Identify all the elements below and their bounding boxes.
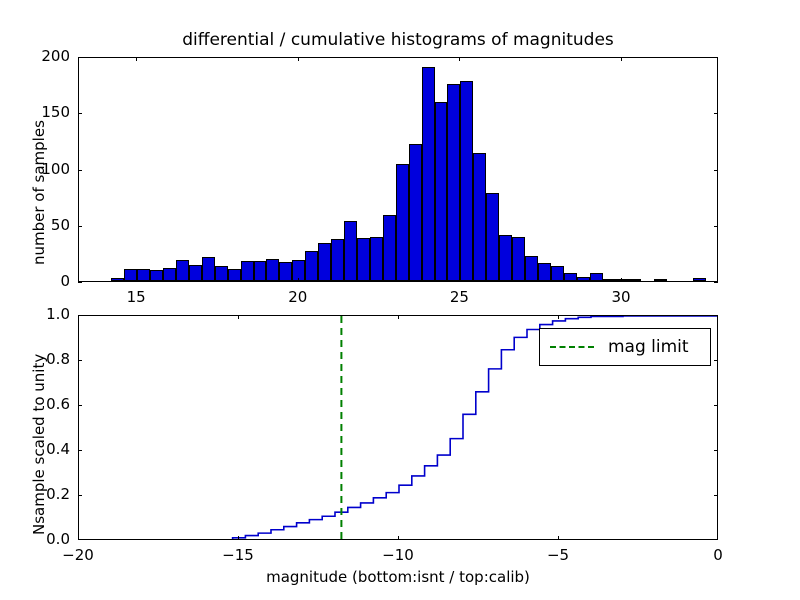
bottom-axes-xticklabel: −20 xyxy=(38,546,118,564)
top-axes-ytick xyxy=(78,226,82,227)
top-axes-xticklabel: 30 xyxy=(581,288,661,306)
top-axes-xticklabel: 15 xyxy=(96,288,176,306)
top-axes-xticklabel: 25 xyxy=(419,288,499,306)
top-axes-yticklabel: 150 xyxy=(4,103,70,121)
histogram-bar xyxy=(577,277,590,282)
histogram-bar xyxy=(551,266,564,281)
histogram-bar xyxy=(422,67,435,281)
page-title: differential / cumulative histograms of … xyxy=(78,30,718,50)
legend-label-mag-limit: mag limit xyxy=(608,337,689,357)
top-axes-xtick xyxy=(136,57,137,61)
histogram-bar xyxy=(447,84,460,281)
bottom-axes-ytick xyxy=(714,450,718,451)
histogram-bar xyxy=(383,215,396,281)
top-axes-xtick xyxy=(459,278,460,282)
histogram-bar xyxy=(564,273,577,281)
bottom-axes-xtick xyxy=(558,315,559,319)
histogram-bar xyxy=(616,279,629,281)
top-axes-yticklabel: 50 xyxy=(4,216,70,234)
bottom-axes-xtick xyxy=(398,536,399,540)
histogram-bar xyxy=(202,257,215,281)
bottom-axes-xticklabel: 0 xyxy=(678,546,758,564)
bottom-axes-ytick xyxy=(78,360,82,361)
bottom-axes-xticklabel: −5 xyxy=(518,546,598,564)
histogram-bar xyxy=(435,102,448,281)
top-axes-yticklabel: 200 xyxy=(4,47,70,65)
figure-canvas: differential / cumulative histograms of … xyxy=(0,0,800,600)
histogram-bar xyxy=(241,261,254,281)
histogram-bar xyxy=(254,261,267,281)
bottom-axes-ytick xyxy=(714,495,718,496)
top-axes-xtick xyxy=(298,278,299,282)
histogram-bar xyxy=(603,279,616,281)
histogram-bar xyxy=(305,251,318,281)
mag-limit-line-icon xyxy=(550,346,594,348)
bottom-axes-ytick xyxy=(78,495,82,496)
histogram-bar xyxy=(512,237,525,281)
bottom-axes-ytick xyxy=(78,450,82,451)
legend[interactable]: mag limit xyxy=(539,328,711,366)
top-axes-yticklabel: 0 xyxy=(4,272,70,290)
histogram-bar xyxy=(344,221,357,281)
bottom-axes-ytick xyxy=(714,315,718,316)
histogram-bar xyxy=(396,164,409,281)
histogram-bar xyxy=(163,268,176,282)
top-axes-ytick xyxy=(714,113,718,114)
top-axes-ytick xyxy=(714,170,718,171)
top-axes-yticklabel: 100 xyxy=(4,160,70,178)
histogram-bar xyxy=(499,235,512,281)
bottom-axes-yticklabel: 0.6 xyxy=(4,395,70,413)
bottom-axes-yticklabel: 0.2 xyxy=(4,485,70,503)
top-axes-ytick xyxy=(78,113,82,114)
histogram-bar xyxy=(357,238,370,281)
bottom-axis-xlabel: magnitude (bottom:isnt / top:calib) xyxy=(78,568,718,586)
top-axes-xtick xyxy=(298,57,299,61)
top-axes-xtick xyxy=(621,278,622,282)
bottom-axes-yticklabel: 1.0 xyxy=(4,305,70,323)
histogram-bar xyxy=(137,269,150,281)
bottom-axes-ytick xyxy=(78,405,82,406)
histogram-bar xyxy=(266,259,279,282)
histogram-bar xyxy=(215,266,228,281)
histogram-bar xyxy=(486,193,499,281)
bottom-axes-yticklabel: 0.0 xyxy=(4,530,70,548)
histogram-bar xyxy=(176,260,189,281)
bottom-axes-yticklabel: 0.4 xyxy=(4,440,70,458)
bottom-axes-xtick xyxy=(238,536,239,540)
top-axes-ytick xyxy=(78,170,82,171)
histogram-bar xyxy=(228,269,241,281)
differential-histogram-axes xyxy=(78,57,718,282)
bottom-axes-ytick xyxy=(714,360,718,361)
bottom-axes-xtick xyxy=(558,536,559,540)
histogram-bars-layer xyxy=(79,58,717,281)
histogram-bar xyxy=(473,153,486,281)
top-axes-xtick xyxy=(136,278,137,282)
bottom-axes-xtick xyxy=(238,315,239,319)
top-axes-xticklabel: 20 xyxy=(258,288,338,306)
bottom-axes-yticklabel: 0.8 xyxy=(4,350,70,368)
top-axes-xtick xyxy=(459,57,460,61)
bottom-axes-ytick xyxy=(78,539,82,540)
histogram-bar xyxy=(331,239,344,281)
top-axes-ytick xyxy=(78,282,82,283)
histogram-bar xyxy=(538,263,551,281)
top-axes-ytick xyxy=(714,57,718,58)
histogram-bar xyxy=(111,278,124,281)
bottom-axes-ytick xyxy=(714,539,718,540)
bottom-axes-ytick xyxy=(714,405,718,406)
bottom-axes-ytick xyxy=(78,315,82,316)
top-axes-ytick xyxy=(714,226,718,227)
bottom-axes-xtick xyxy=(398,315,399,319)
histogram-bar xyxy=(370,237,383,281)
histogram-bar xyxy=(654,279,667,281)
top-axis-ylabel: number of samples xyxy=(30,120,48,265)
bottom-axes-xticklabel: −10 xyxy=(358,546,438,564)
histogram-bar xyxy=(628,279,641,281)
top-axes-xtick xyxy=(621,57,622,61)
histogram-bar xyxy=(150,270,163,281)
histogram-bar xyxy=(318,243,331,281)
histogram-bar xyxy=(590,273,603,281)
top-axes-ytick xyxy=(78,57,82,58)
histogram-bar xyxy=(693,278,706,281)
histogram-bar xyxy=(279,262,292,281)
histogram-bar xyxy=(525,256,538,281)
histogram-bar xyxy=(460,81,473,281)
top-axes-ytick xyxy=(714,282,718,283)
bottom-axes-xticklabel: −15 xyxy=(198,546,278,564)
histogram-bar xyxy=(189,265,202,281)
histogram-bar xyxy=(409,144,422,281)
